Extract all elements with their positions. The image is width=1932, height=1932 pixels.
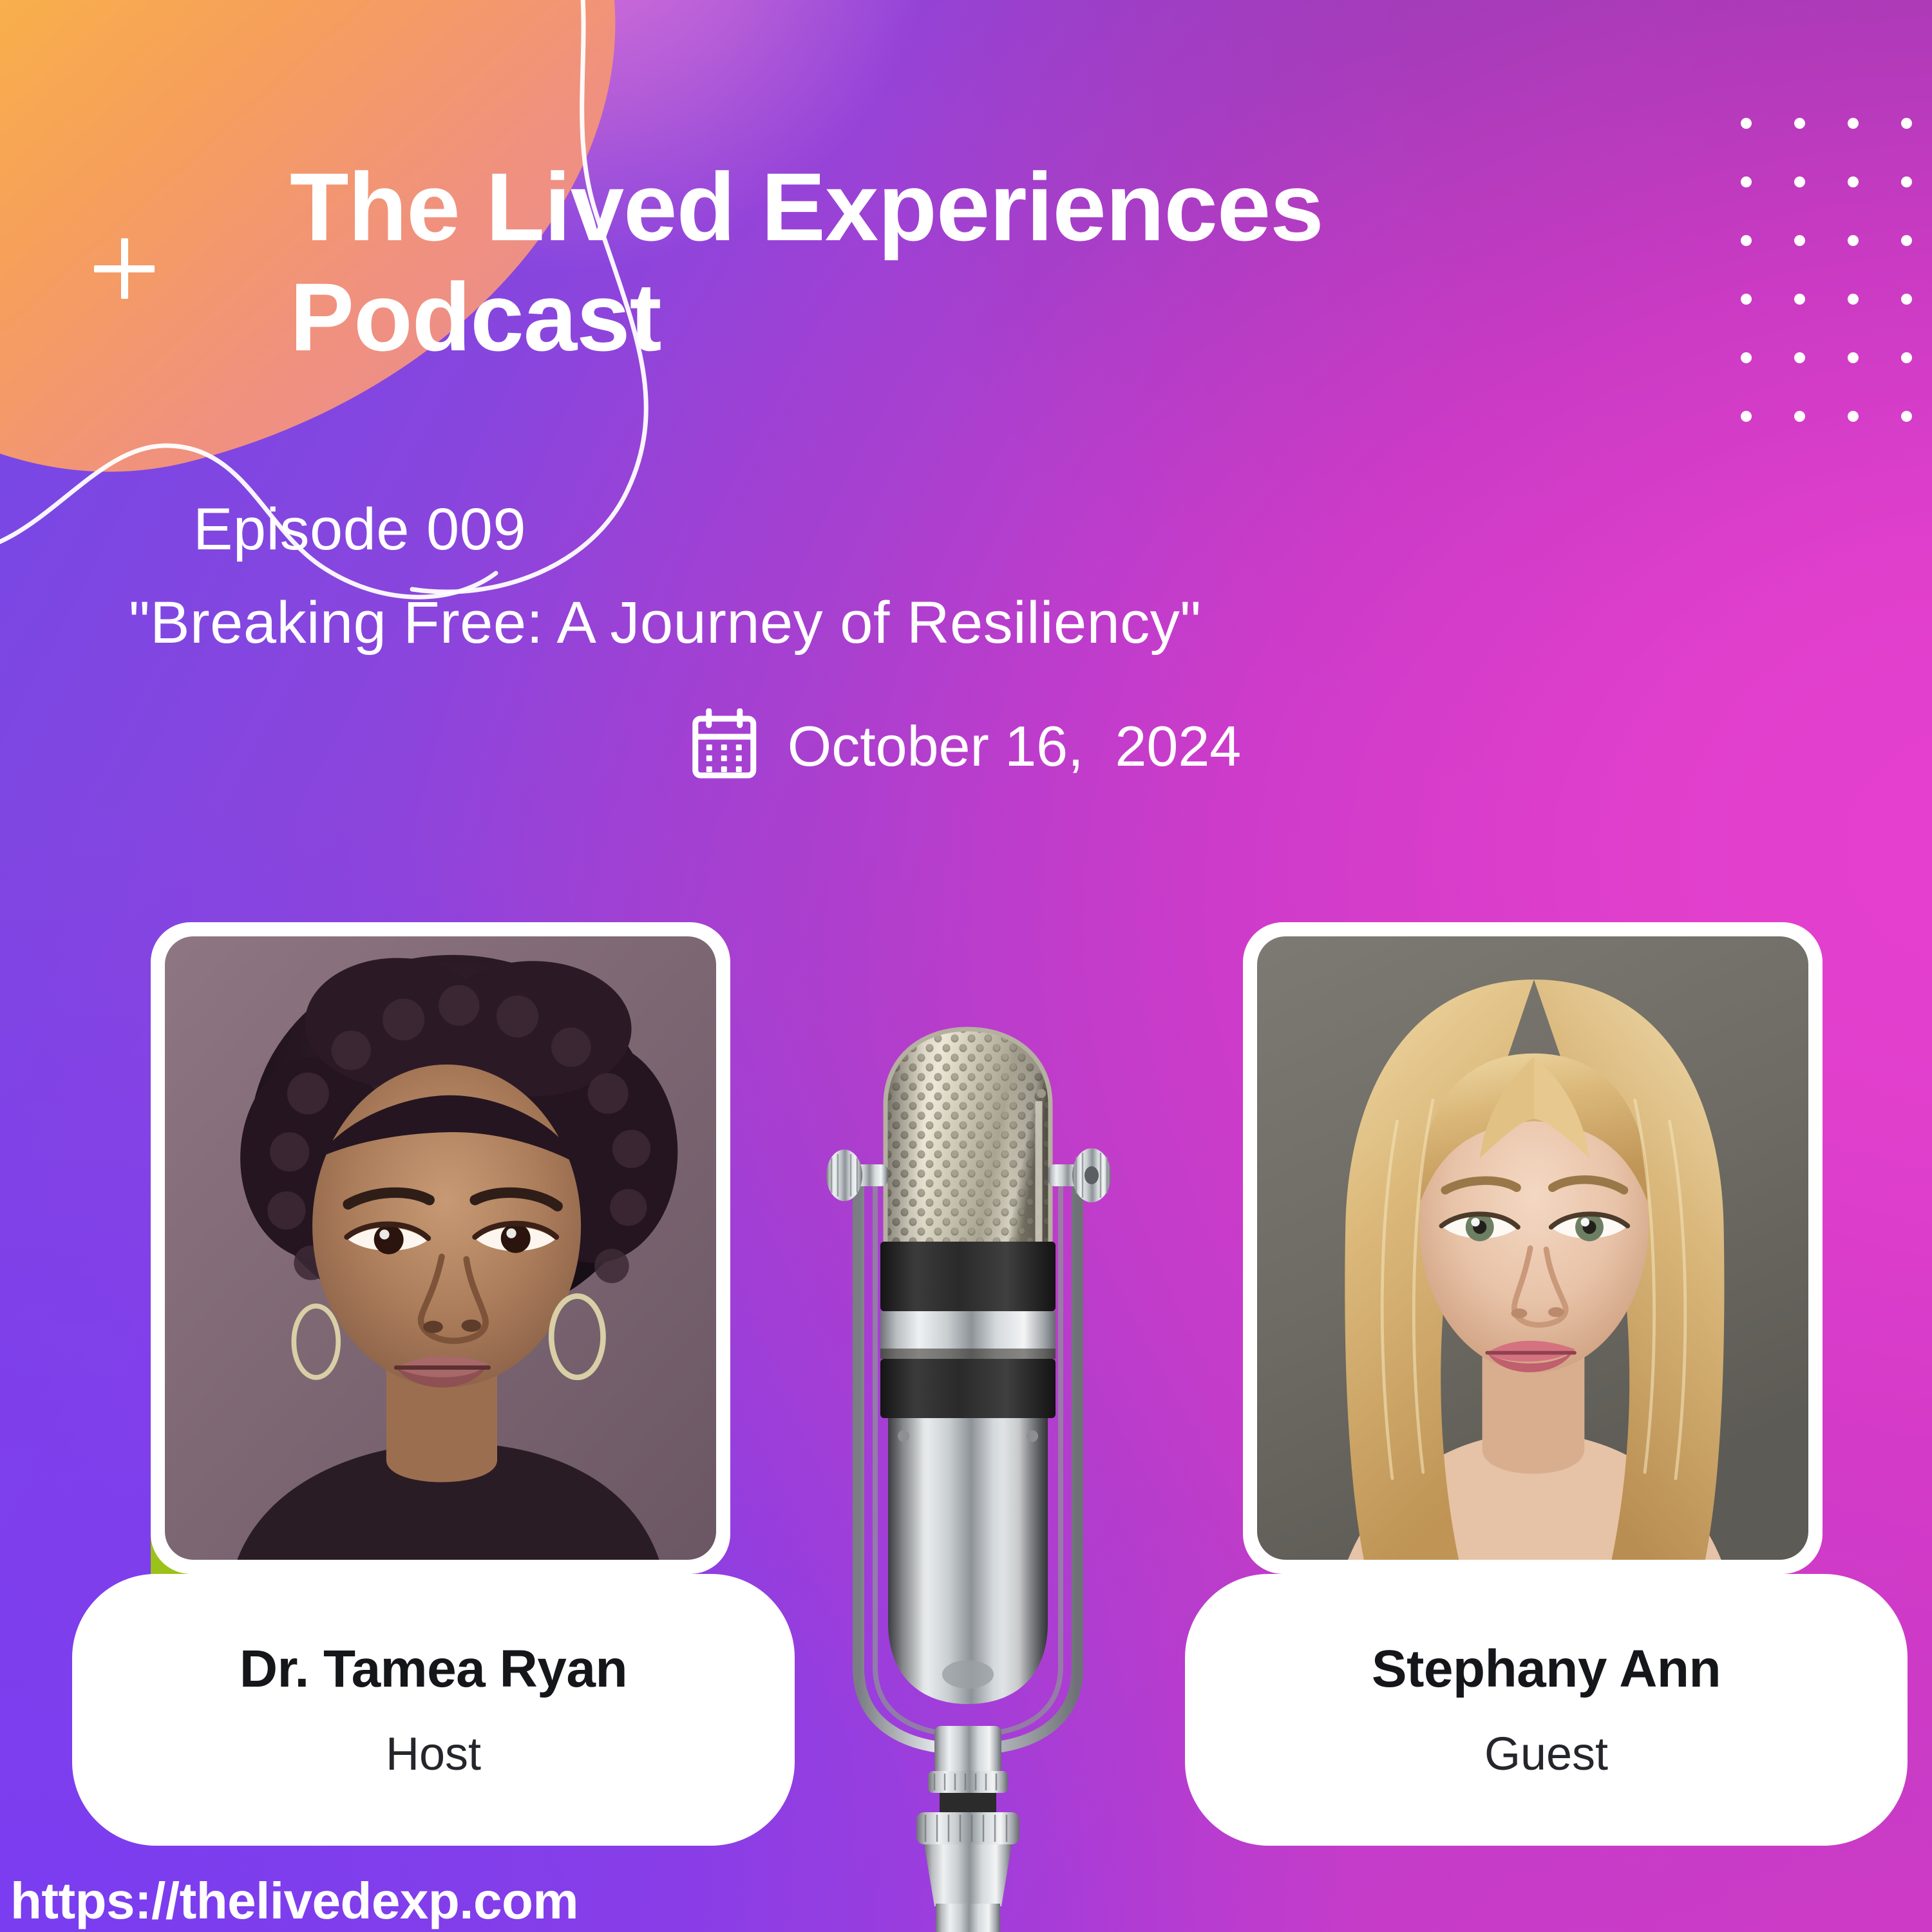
guest-portrait-image	[1257, 936, 1808, 1560]
host-photo-frame	[151, 922, 730, 1574]
wavy-line-decoration	[0, 0, 831, 779]
page-title: The Lived Experiences Podcast	[290, 152, 1642, 372]
vintage-ribbon-microphone-icon	[808, 1024, 1150, 1932]
website-url[interactable]: https://thelivedexp.com	[10, 1871, 578, 1931]
host-portrait-image	[165, 936, 716, 1560]
host-name: Dr. Tamea Ryan	[240, 1639, 627, 1700]
episode-date-row: October 16, 2024	[691, 708, 1241, 784]
avatar	[1257, 936, 1808, 1560]
episode-number: Episode 009	[193, 496, 1739, 563]
guest-nameplate: Stephany Ann Guest	[1185, 1574, 1908, 1846]
host-role: Host	[386, 1728, 481, 1781]
episode-date: October 16, 2024	[788, 714, 1241, 779]
avatar	[165, 936, 716, 1560]
dot-grid-icon	[1741, 118, 1912, 422]
poster-canvas: The Lived Experiences Podcast Episode 00…	[0, 0, 1932, 1932]
plus-mark-icon	[94, 238, 155, 299]
guest-photo-frame	[1243, 922, 1823, 1574]
guest-role: Guest	[1484, 1728, 1608, 1781]
host-nameplate: Dr. Tamea Ryan Host	[72, 1574, 795, 1846]
calendar-icon	[691, 708, 758, 784]
guest-name: Stephany Ann	[1372, 1639, 1721, 1700]
episode-title: "Breaking Free: A Journey of Resiliency"	[129, 589, 1803, 657]
